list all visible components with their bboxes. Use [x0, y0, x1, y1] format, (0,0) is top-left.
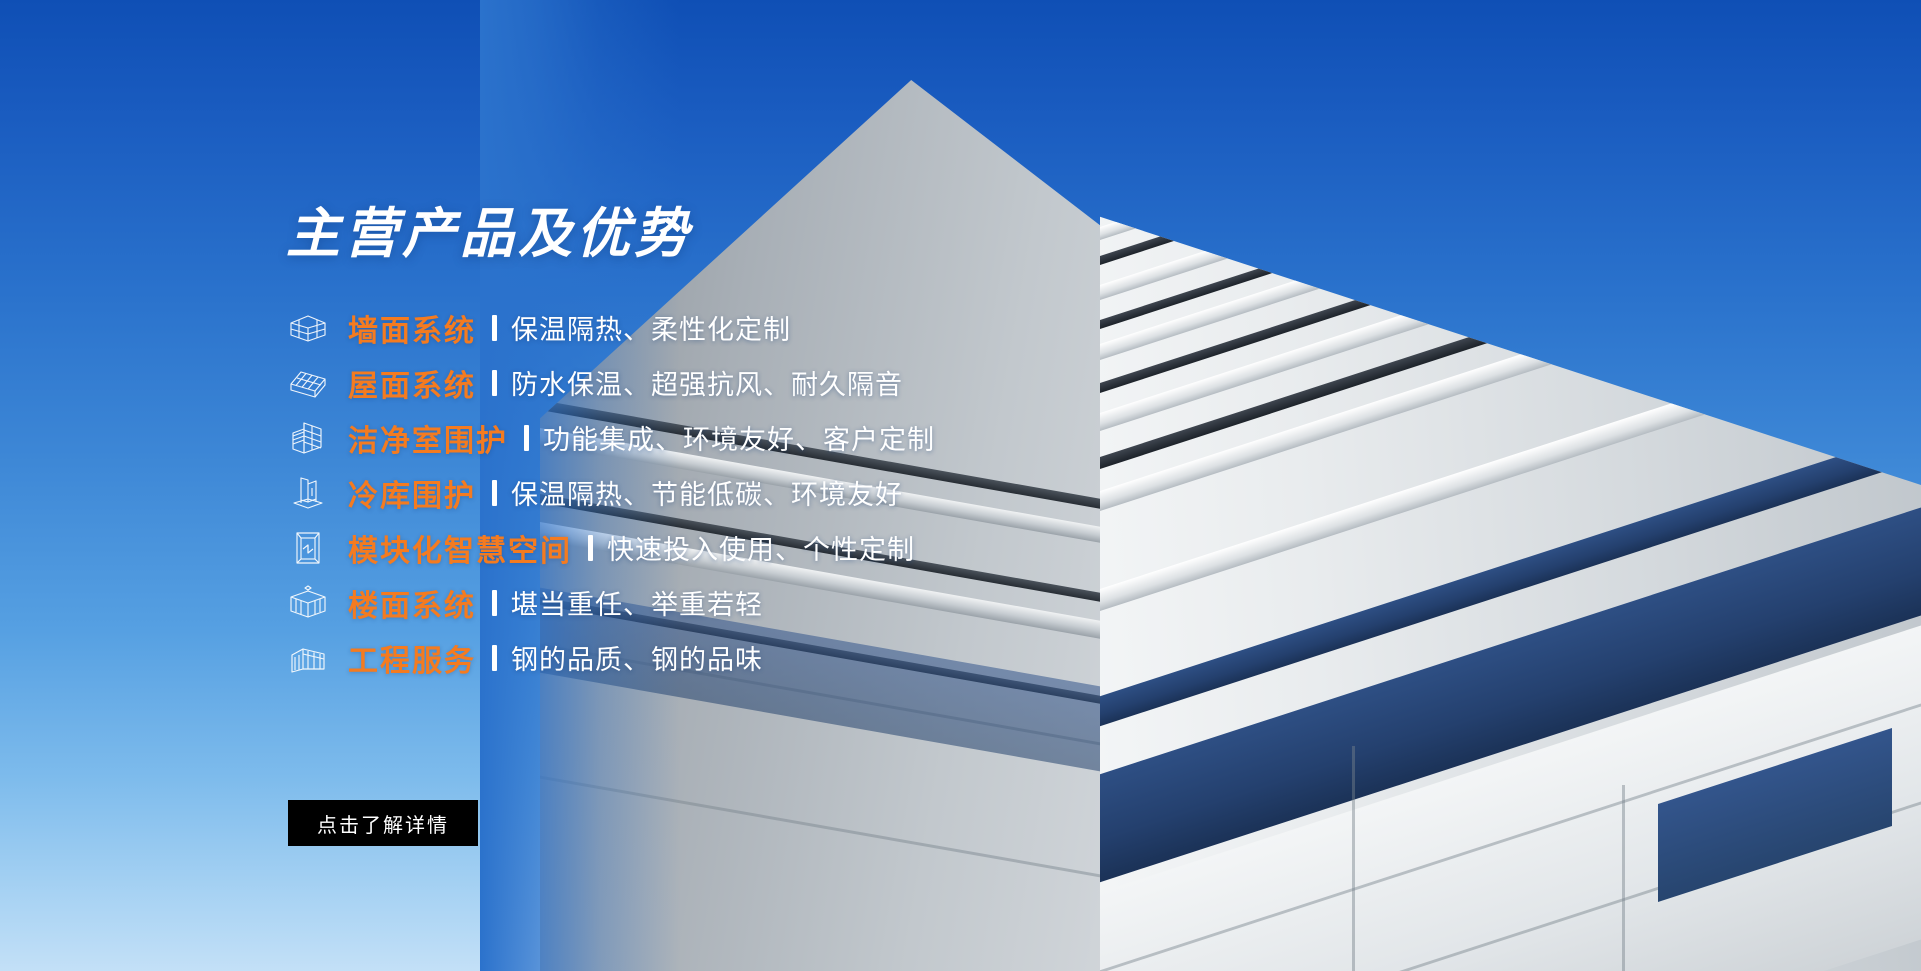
product-name: 楼面系统	[348, 581, 476, 625]
hero-banner: 主营产品及优势 墙面系统 保温隔热、柔性化定制	[0, 0, 1921, 971]
roof-system-icon	[286, 363, 330, 403]
product-desc: 保温隔热、节能低碳、环境友好	[511, 473, 903, 512]
separator-bar	[492, 645, 497, 671]
product-name: 工程服务	[348, 636, 476, 680]
modular-smart-space-icon	[286, 528, 330, 568]
product-name: 墙面系统	[348, 306, 476, 350]
list-item[interactable]: 洁净室围护 功能集成、环境友好、客户定制	[286, 410, 1106, 465]
floor-system-icon	[286, 583, 330, 623]
cold-storage-enclosure-icon	[286, 473, 330, 513]
engineering-service-icon	[286, 638, 330, 678]
separator-bar	[588, 535, 593, 561]
product-desc: 快速投入使用、个性定制	[607, 528, 915, 567]
product-name: 冷库围护	[348, 471, 476, 515]
product-name: 屋面系统	[348, 361, 476, 405]
page-title: 主营产品及优势	[286, 206, 692, 263]
product-desc: 钢的品质、钢的品味	[511, 638, 763, 677]
product-name: 洁净室围护	[348, 416, 508, 460]
list-item[interactable]: 墙面系统 保温隔热、柔性化定制	[286, 300, 1106, 355]
hero-content: 主营产品及优势 墙面系统 保温隔热、柔性化定制	[0, 0, 1100, 971]
product-desc: 功能集成、环境友好、客户定制	[543, 418, 935, 457]
product-desc: 堪当重任、举重若轻	[511, 583, 763, 622]
cleanroom-enclosure-icon	[286, 418, 330, 458]
product-desc: 防水保温、超强抗风、耐久隔音	[511, 363, 903, 402]
list-item[interactable]: 屋面系统 防水保温、超强抗风、耐久隔音	[286, 355, 1106, 410]
separator-bar	[524, 425, 529, 451]
separator-bar	[492, 480, 497, 506]
list-item[interactable]: 工程服务 钢的品质、钢的品味	[286, 630, 1106, 685]
list-item[interactable]: 楼面系统 堪当重任、举重若轻	[286, 575, 1106, 630]
product-list: 墙面系统 保温隔热、柔性化定制 屋面系统	[286, 300, 1106, 685]
list-item[interactable]: 模块化智慧空间 快速投入使用、个性定制	[286, 520, 1106, 575]
list-item[interactable]: 冷库围护 保温隔热、节能低碳、环境友好	[286, 465, 1106, 520]
learn-more-button[interactable]: 点击了解详情	[288, 800, 478, 846]
product-name: 模块化智慧空间	[348, 526, 572, 570]
separator-bar	[492, 315, 497, 341]
wall-system-icon	[286, 308, 330, 348]
product-desc: 保温隔热、柔性化定制	[511, 308, 791, 347]
separator-bar	[492, 370, 497, 396]
separator-bar	[492, 590, 497, 616]
